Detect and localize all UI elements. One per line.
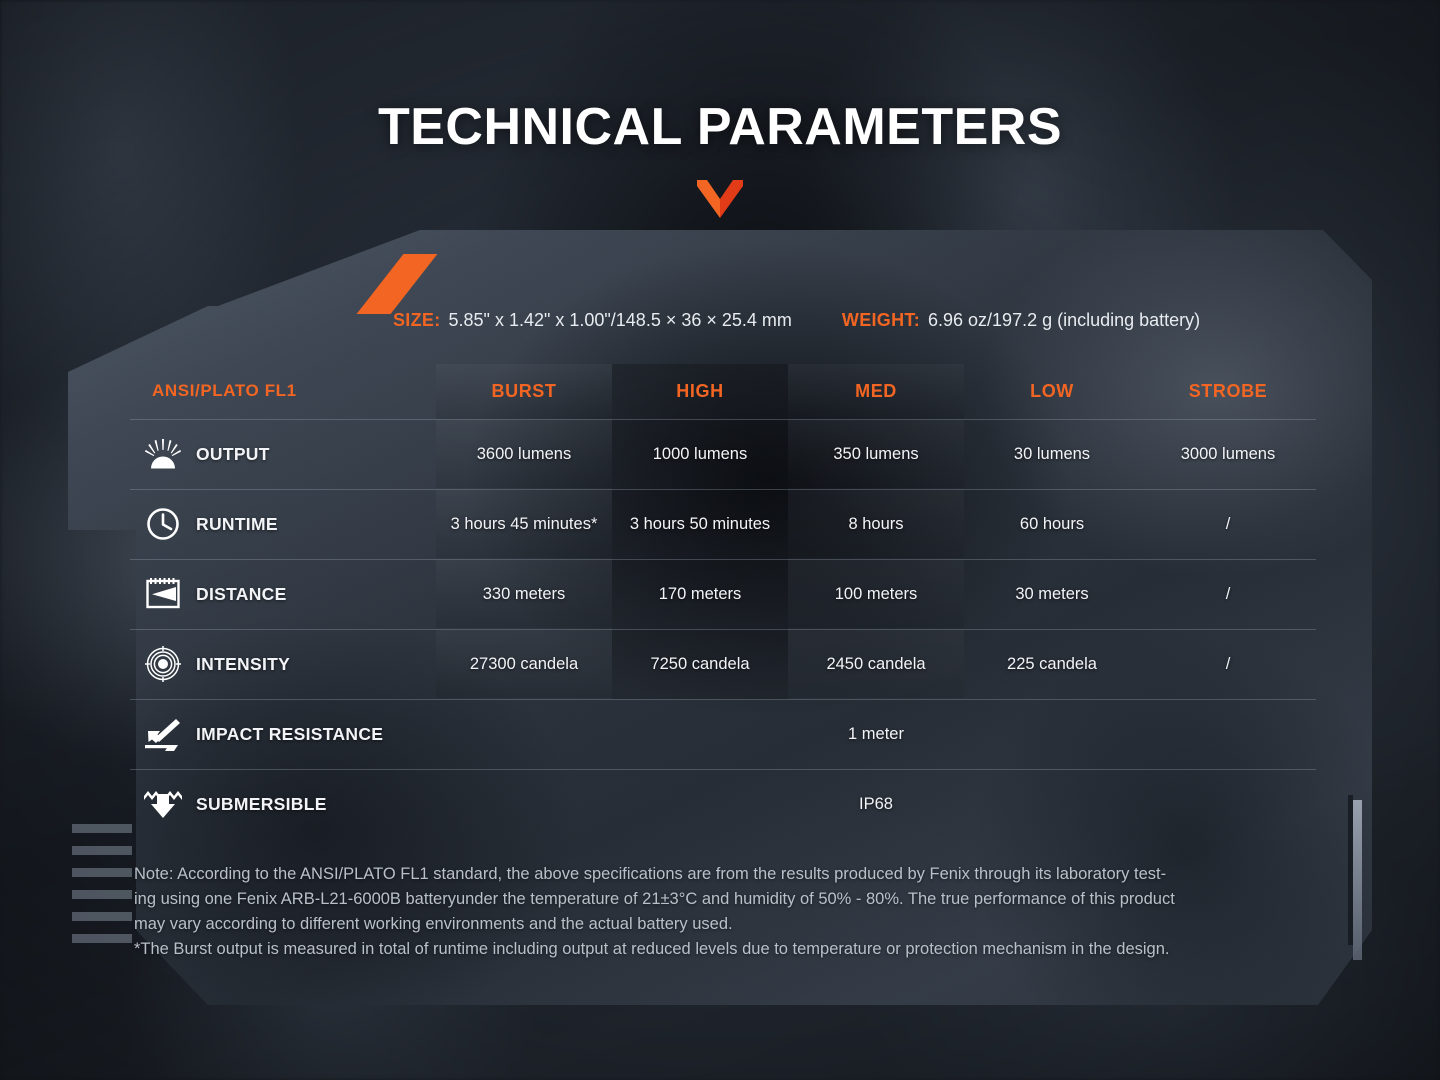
row-label-intensity: INTENSITY [130, 629, 436, 699]
column-header-strobe: STROBE [1140, 364, 1316, 419]
spec-table: ANSI/PLATO FL1 BURST HIGH MED LOW STROBE [130, 364, 1316, 839]
row-label-text: SUBMERSIBLE [196, 794, 327, 815]
weight-value: 6.96 oz/197.2 g (including battery) [928, 310, 1200, 331]
row-label-text: OUTPUT [196, 444, 270, 465]
cell-output-low: 30 lumens [964, 419, 1140, 489]
submersible-waves-icon [144, 785, 182, 823]
row-label-submersible: SUBMERSIBLE [130, 769, 436, 839]
cell-submersible-value: IP68 [436, 769, 1316, 839]
table-row: DISTANCE 330 meters 170 meters 100 meter… [130, 559, 1316, 629]
clock-icon [144, 505, 182, 543]
impact-arrow-icon [144, 715, 182, 753]
column-header-low: LOW [964, 364, 1140, 419]
size-weight-row: SIZE: 5.85" x 1.42" x 1.00"/148.5 × 36 ×… [393, 310, 1353, 331]
row-label-text: RUNTIME [196, 514, 278, 535]
footnote-line-3: may vary according to different working … [134, 912, 1324, 937]
cell-distance-low: 30 meters [964, 559, 1140, 629]
footnote-line-2: ing using one Fenix ARB-L21-6000B batter… [134, 887, 1324, 912]
row-label-impact-resistance: IMPACT RESISTANCE [130, 699, 436, 769]
target-intensity-icon [144, 645, 182, 683]
page-root: TECHNICAL PARAMETERS SIZE: 5.85" x 1.42"… [0, 0, 1440, 1080]
table-header-row: ANSI/PLATO FL1 BURST HIGH MED LOW STROBE [130, 364, 1316, 419]
cell-distance-med: 100 meters [788, 559, 964, 629]
weight-label: WEIGHT: [842, 310, 920, 331]
beam-distance-icon [144, 575, 182, 613]
column-header-burst: BURST [436, 364, 612, 419]
footnote-line-4: *The Burst output is measured in total o… [134, 937, 1324, 962]
table-row: SUBMERSIBLE IP68 [130, 769, 1316, 839]
panel-content: SIZE: 5.85" x 1.42" x 1.00"/148.5 × 36 ×… [68, 230, 1372, 1005]
cell-runtime-high: 3 hours 50 minutes [612, 489, 788, 559]
footnote-line-1: Note: According to the ANSI/PLATO FL1 st… [134, 862, 1324, 887]
cell-intensity-burst: 27300 candela [436, 629, 612, 699]
cell-intensity-strobe: / [1140, 629, 1316, 699]
row-label-text: DISTANCE [196, 584, 287, 605]
cell-intensity-med: 2450 candela [788, 629, 964, 699]
row-label-text: INTENSITY [196, 654, 290, 675]
cell-runtime-burst: 3 hours 45 minutes* [436, 489, 612, 559]
sunburst-icon [144, 435, 182, 473]
cell-distance-high: 170 meters [612, 559, 788, 629]
page-title: TECHNICAL PARAMETERS [0, 97, 1440, 157]
size-value: 5.85" x 1.42" x 1.00"/148.5 × 36 × 25.4 … [449, 310, 792, 331]
footnote-block: Note: According to the ANSI/PLATO FL1 st… [134, 862, 1324, 962]
row-label-runtime: RUNTIME [130, 489, 436, 559]
chevron-down-icon [0, 180, 1440, 218]
cell-output-high: 1000 lumens [612, 419, 788, 489]
size-label: SIZE: [393, 310, 441, 331]
cell-output-strobe: 3000 lumens [1140, 419, 1316, 489]
cell-distance-strobe: / [1140, 559, 1316, 629]
table-row: OUTPUT 3600 lumens 1000 lumens 350 lumen… [130, 419, 1316, 489]
cell-runtime-low: 60 hours [964, 489, 1140, 559]
table-row: IMPACT RESISTANCE 1 meter [130, 699, 1316, 769]
cell-runtime-med: 8 hours [788, 489, 964, 559]
cell-distance-burst: 330 meters [436, 559, 612, 629]
cell-intensity-high: 7250 candela [612, 629, 788, 699]
table-row: INTENSITY 27300 candela 7250 candela 245… [130, 629, 1316, 699]
cell-output-burst: 3600 lumens [436, 419, 612, 489]
row-label-distance: DISTANCE [130, 559, 436, 629]
column-header-ansi: ANSI/PLATO FL1 [130, 364, 436, 419]
cell-runtime-strobe: / [1140, 489, 1316, 559]
row-label-text: IMPACT RESISTANCE [196, 724, 383, 745]
cell-intensity-low: 225 candela [964, 629, 1140, 699]
column-header-high: HIGH [612, 364, 788, 419]
cell-output-med: 350 lumens [788, 419, 964, 489]
table-row: RUNTIME 3 hours 45 minutes* 3 hours 50 m… [130, 489, 1316, 559]
cell-impact-resistance-value: 1 meter [436, 699, 1316, 769]
column-header-med: MED [788, 364, 964, 419]
row-label-output: OUTPUT [130, 419, 436, 489]
